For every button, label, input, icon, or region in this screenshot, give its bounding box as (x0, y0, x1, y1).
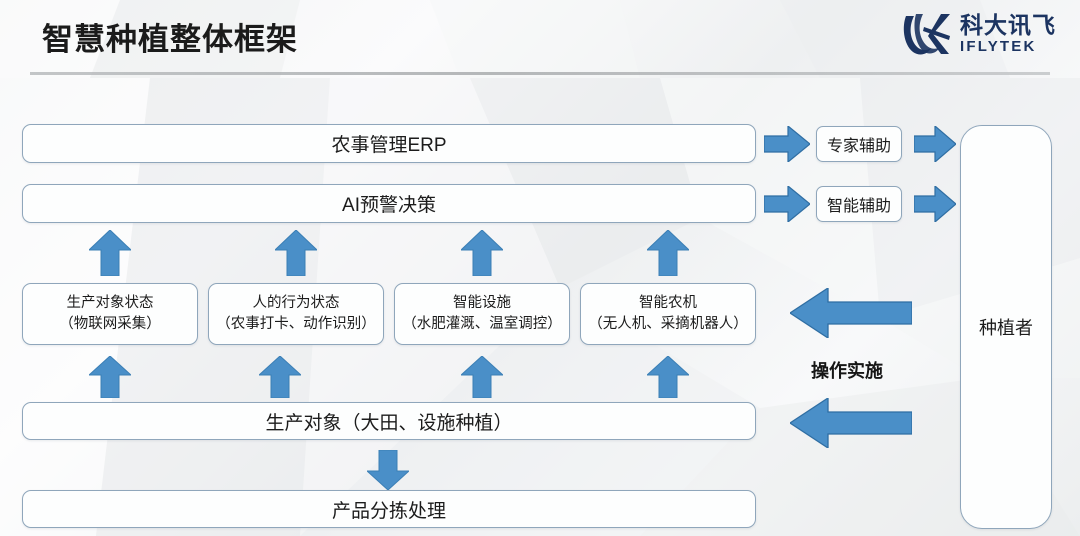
node-grower[interactable]: 种植者 (960, 125, 1052, 529)
node-label-line1: 智能农机 (588, 293, 748, 314)
node-production-object[interactable]: 生产对象（大田、设施种植） (22, 402, 756, 440)
arrow-up-production-to-capability-1 (89, 356, 131, 398)
node-capability-smart-agri-machinery[interactable]: 智能农机 （无人机、采摘机器人） (580, 283, 756, 345)
node-farm-management-erp[interactable]: 农事管理ERP (22, 124, 756, 163)
arrow-up-capability-3-to-ai (461, 230, 503, 276)
node-label-line2: （水肥灌溉、温室调控） (402, 314, 562, 335)
node-capability-human-behavior-status[interactable]: 人的行为状态 （农事打卡、动作识别） (208, 283, 384, 345)
node-label-line2: （无人机、采摘机器人） (588, 314, 748, 335)
arrow-up-capability-2-to-ai (275, 230, 317, 276)
node-label: 种植者 (979, 314, 1033, 340)
node-label-line1: 人的行为状态 (216, 293, 376, 314)
header-divider (30, 72, 1050, 75)
arrow-up-production-to-capability-4 (647, 356, 689, 398)
node-capability-smart-facility[interactable]: 智能设施 （水肥灌溉、温室调控） (394, 283, 570, 345)
node-label-line2: （物联网采集） (59, 314, 161, 335)
node-label: AI预警决策 (342, 190, 436, 217)
arrow-up-capability-1-to-ai (89, 230, 131, 276)
brand-logo: 科大讯飞 IFLYTEK (900, 10, 1056, 58)
brand-name-en: IFLYTEK (960, 39, 1056, 54)
annotation-operation-implementation: 操作实施 (811, 357, 883, 383)
arrow-left-grower-to-capabilities (790, 288, 912, 338)
arrow-right-expert-to-grower (914, 126, 956, 162)
arrow-down-production-to-sorting (367, 450, 409, 490)
node-ai-warning-decision[interactable]: AI预警决策 (22, 184, 756, 223)
node-smart-assist[interactable]: 智能辅助 (816, 186, 902, 222)
node-label: 智能辅助 (827, 192, 891, 216)
slide-canvas: 智慧种植整体框架 科大讯飞 IFLYTEK 农事管理ERP AI预警决策 专家辅… (0, 0, 1080, 536)
node-label-line2: （农事打卡、动作识别） (216, 314, 376, 335)
node-label-line1: 生产对象状态 (59, 293, 161, 314)
node-label: 农事管理ERP (331, 130, 446, 157)
node-expert-assist[interactable]: 专家辅助 (816, 126, 902, 162)
node-label: 产品分拣处理 (332, 496, 446, 523)
arrow-right-erp-to-expert (764, 126, 810, 162)
arrow-right-smart-assist-to-grower (914, 186, 956, 222)
page-title: 智慧种植整体框架 (42, 14, 298, 59)
node-capability-production-object-status[interactable]: 生产对象状态 （物联网采集） (22, 283, 198, 345)
arrow-up-production-to-capability-3 (461, 356, 503, 398)
node-label-line1: 智能设施 (402, 293, 562, 314)
node-label: 生产对象（大田、设施种植） (265, 408, 512, 435)
arrow-up-production-to-capability-2 (259, 356, 301, 398)
arrow-left-grower-to-production (790, 398, 912, 448)
arrow-right-ai-to-smart-assist (764, 186, 810, 222)
iflytek-mark-icon (900, 10, 954, 58)
arrow-up-capability-4-to-ai (647, 230, 689, 276)
node-product-sorting[interactable]: 产品分拣处理 (22, 490, 756, 528)
brand-name-cn: 科大讯飞 (960, 14, 1056, 37)
node-label: 专家辅助 (827, 132, 891, 156)
